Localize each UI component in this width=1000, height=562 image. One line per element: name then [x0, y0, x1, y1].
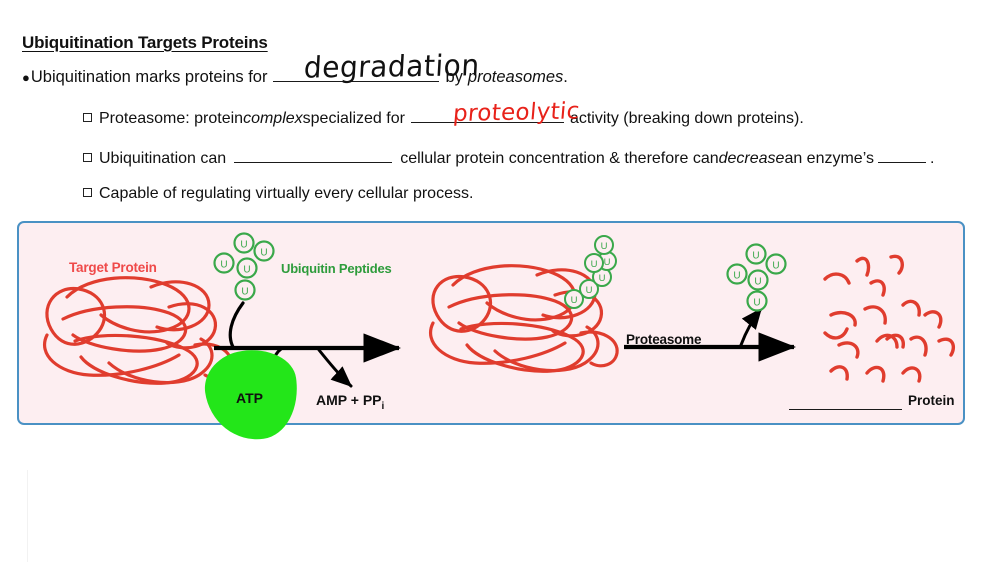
ubiquitin-cluster-left: U U U U U	[215, 234, 274, 300]
sub-item-3: Capable of regulating virtually every ce…	[83, 185, 473, 203]
amp-main: AMP + PP	[316, 392, 382, 408]
bullet-period: .	[563, 68, 568, 87]
svg-text:U: U	[591, 259, 598, 270]
svg-text:U: U	[220, 260, 227, 271]
sub1-seg2: specialized for	[303, 110, 405, 128]
slide-page: Ubiquitination Targets Proteins ● Ubiqui…	[0, 0, 1000, 562]
bullet-italic-proteasomes: proteasomes	[468, 68, 563, 87]
ubiquitin-circle: U	[236, 281, 255, 300]
ubiquitin-cluster-right: U U U U U	[728, 245, 786, 311]
ubiquitin-circle: U	[235, 234, 254, 253]
answer-blank-effect[interactable]	[234, 147, 392, 163]
sub2-seg4: .	[930, 150, 934, 168]
sub2-seg2: cellular protein concentration & therefo…	[400, 150, 718, 168]
ubiquitin-circle: U	[748, 292, 767, 311]
ubiquitin-circle: U	[749, 271, 768, 290]
bullet-line-1: ● Ubiquitination marks proteins for by p…	[22, 66, 568, 87]
figure-drawing: U U U U U	[19, 223, 967, 427]
sub-item-2: Ubiquitination can cellular protein conc…	[83, 147, 934, 168]
svg-text:U: U	[754, 277, 761, 288]
label-ubiquitin-peptides: Ubiquitin Peptides	[281, 261, 392, 276]
label-target-protein: Target Protein	[69, 260, 157, 275]
ubiquitin-circle: U	[728, 265, 747, 284]
ubiquitin-circle: U	[585, 254, 603, 272]
svg-text:U: U	[753, 298, 760, 309]
sub2-italic-decrease: decrease	[719, 150, 785, 168]
amp-subscript: i	[382, 401, 385, 412]
svg-text:U: U	[571, 295, 578, 306]
svg-text:U: U	[240, 240, 247, 251]
svg-text:U: U	[260, 248, 267, 259]
sub2-seg1: Ubiquitination can	[99, 150, 226, 168]
answer-blank-degraded-protein[interactable]	[789, 409, 902, 410]
ubiquitin-circle: U	[767, 255, 786, 274]
handwriting-proteolytic: proteolytic	[452, 98, 581, 127]
svg-text:U: U	[772, 261, 779, 272]
checkbox-square-icon[interactable]	[83, 188, 92, 197]
sub3-seg1: Capable of regulating virtually every ce…	[99, 185, 473, 203]
svg-text:U: U	[752, 251, 759, 262]
sub-item-1: Proteasome: protein complex specialized …	[83, 108, 804, 128]
atp-input-curve	[273, 349, 281, 381]
answer-blank-enzyme[interactable]	[878, 148, 926, 163]
ubiquitination-figure-panel: U U U U U	[17, 221, 965, 425]
page-title: Ubiquitination Targets Proteins	[22, 33, 268, 53]
checkbox-square-icon[interactable]	[83, 153, 92, 162]
svg-text:U: U	[601, 241, 608, 252]
svg-text:U: U	[586, 285, 593, 296]
label-proteasome: Proteasome	[626, 332, 701, 347]
sub1-italic-complex: complex	[243, 110, 303, 128]
label-amp-ppi: AMP + PPi	[316, 392, 384, 412]
checkbox-square-icon[interactable]	[83, 113, 92, 122]
sub2-seg3: an enzyme’s	[784, 150, 874, 168]
page-guide-line	[27, 470, 28, 562]
ubiquitin-release-curve	[741, 309, 761, 345]
svg-text:U: U	[604, 257, 611, 268]
bullet-glyph: ●	[22, 71, 30, 84]
svg-text:U: U	[243, 265, 250, 276]
sub1-seg1: Proteasome: protein	[99, 110, 243, 128]
svg-text:U: U	[599, 273, 606, 284]
sub1-seg3: activity (breaking down proteins).	[570, 110, 804, 128]
svg-text:U: U	[733, 271, 740, 282]
atp-highlight-label: ATP	[236, 390, 263, 406]
ubiquitin-circle: U	[747, 245, 766, 264]
ubiquitin-circle: U	[255, 242, 274, 261]
bullet-text-before: Ubiquitination marks proteins for	[31, 68, 268, 87]
target-protein-squiggle	[45, 278, 232, 384]
handwriting-degradation: degradation	[303, 48, 481, 85]
peptide-fragments	[825, 256, 953, 381]
svg-text:U: U	[241, 287, 248, 298]
label-protein-output: Protein	[908, 393, 955, 408]
amp-output-curve	[319, 350, 351, 386]
ubiquitin-circle: U	[215, 254, 234, 273]
ubiquitin-circle: U	[595, 236, 613, 254]
ubiquitin-input-curve	[230, 303, 243, 347]
ubiquitin-circle: U	[238, 259, 257, 278]
